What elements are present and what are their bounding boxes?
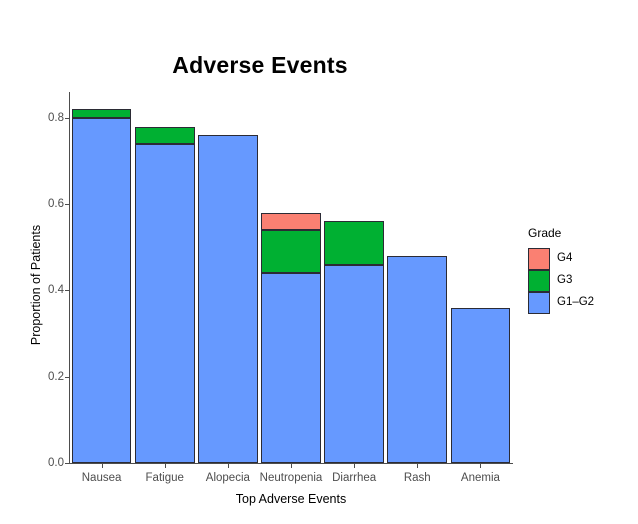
x-tick-label-neutropenia: Neutropenia xyxy=(260,472,323,484)
y-tick-mark xyxy=(65,204,69,205)
bar-segment-g1-g2[interactable] xyxy=(324,265,384,463)
legend-item-g1-g2[interactable]: G1–G2 xyxy=(528,292,632,314)
bar-neutropenia[interactable] xyxy=(261,92,321,463)
y-tick-label: 0.2 xyxy=(48,371,64,383)
y-tick-label: 0.4 xyxy=(48,284,64,296)
bar-segment-g3[interactable] xyxy=(261,230,321,273)
x-tick-label-diarrhea: Diarrhea xyxy=(332,472,376,484)
bar-segment-g1-g2[interactable] xyxy=(387,256,447,463)
x-tick-label-fatigue: Fatigue xyxy=(146,472,184,484)
legend-swatch-g4 xyxy=(528,248,550,270)
legend-label: G4 xyxy=(557,252,572,264)
plot-panel xyxy=(70,92,512,463)
legend-swatch-g3 xyxy=(528,270,550,292)
bar-fatigue[interactable] xyxy=(135,92,195,463)
bar-segment-g3[interactable] xyxy=(135,127,195,144)
bar-segment-g3[interactable] xyxy=(324,221,384,264)
bar-diarrhea[interactable] xyxy=(324,92,384,463)
legend: Grade G4G3G1–G2 xyxy=(528,248,632,314)
y-tick-mark xyxy=(65,463,69,464)
x-axis-title: Top Adverse Events xyxy=(70,492,512,506)
legend-item-g3[interactable]: G3 xyxy=(528,270,632,292)
legend-label: G3 xyxy=(557,274,572,286)
bar-anemia[interactable] xyxy=(451,92,511,463)
x-tick-label-rash: Rash xyxy=(404,472,431,484)
bar-alopecia[interactable] xyxy=(198,92,258,463)
x-tick-mark xyxy=(480,464,481,468)
legend-swatch-g1-g2 xyxy=(528,292,550,314)
x-tick-label-anemia: Anemia xyxy=(461,472,500,484)
x-tick-mark xyxy=(102,464,103,468)
y-tick-label: 0.6 xyxy=(48,198,64,210)
x-tick-mark xyxy=(291,464,292,468)
chart-title: Adverse Events xyxy=(0,52,520,79)
y-tick-mark xyxy=(65,377,69,378)
x-tick-label-alopecia: Alopecia xyxy=(206,472,250,484)
x-tick-mark xyxy=(417,464,418,468)
x-tick-mark xyxy=(354,464,355,468)
bar-segment-g1-g2[interactable] xyxy=(72,118,132,463)
bar-segment-g1-g2[interactable] xyxy=(198,135,258,463)
legend-items: G4G3G1–G2 xyxy=(528,248,632,314)
legend-label: G1–G2 xyxy=(557,296,594,308)
bar-segment-g1-g2[interactable] xyxy=(451,308,511,463)
bar-rash[interactable] xyxy=(387,92,447,463)
y-tick-mark xyxy=(65,118,69,119)
bar-nausea[interactable] xyxy=(72,92,132,463)
y-axis-title: Proportion of Patients xyxy=(29,170,43,400)
x-tick-mark xyxy=(165,464,166,468)
bar-segment-g3[interactable] xyxy=(72,109,132,118)
bar-segment-g1-g2[interactable] xyxy=(135,144,195,463)
chart-container: Adverse Events 0.00.20.40.60.8 Proportio… xyxy=(0,0,638,524)
y-tick-label: 0.8 xyxy=(48,112,64,124)
legend-title: Grade xyxy=(528,226,561,240)
x-tick-mark xyxy=(228,464,229,468)
y-tick-label: 0.0 xyxy=(48,457,64,469)
y-tick-mark xyxy=(65,290,69,291)
bar-segment-g1-g2[interactable] xyxy=(261,273,321,463)
bar-segment-g4[interactable] xyxy=(261,213,321,230)
legend-item-g4[interactable]: G4 xyxy=(528,248,632,270)
x-tick-label-nausea: Nausea xyxy=(82,472,122,484)
